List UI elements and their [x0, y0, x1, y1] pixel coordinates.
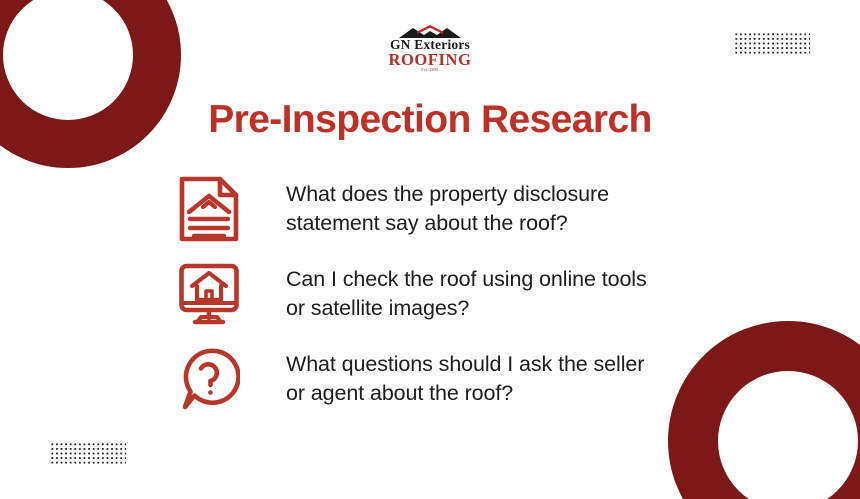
list-item-text: What questions should I ask the seller o… [262, 350, 644, 407]
dot-grid-bottom-left-decoration [50, 442, 126, 466]
question-list: What does the property disclosure statem… [178, 166, 738, 421]
list-item-line-2: or satellite images? [286, 294, 647, 322]
question-speech-bubble-icon [178, 345, 262, 413]
list-item: What questions should I ask the seller o… [178, 336, 738, 421]
brand-logo: GN Exteriors ROOFING Est. 2006 [0, 24, 860, 73]
monitor-house-icon [178, 260, 262, 328]
slide-canvas: GN Exteriors ROOFING Est. 2006 Pre-Inspe… [0, 0, 860, 499]
list-item-line-1: What questions should I ask the seller [286, 352, 644, 376]
logo-service-word: ROOFING [388, 52, 471, 69]
list-item-line-1: What does the property disclosure [286, 182, 609, 206]
list-item-line-1: Can I check the roof using online tools [286, 267, 647, 291]
page-title: Pre-Inspection Research [0, 98, 860, 142]
list-item-text: What does the property disclosure statem… [262, 180, 609, 237]
logo-established-tagline: Est. 2006 [421, 69, 438, 73]
list-item-text: Can I check the roof using online tools … [262, 265, 647, 322]
list-item-line-2: or agent about the roof? [286, 379, 644, 407]
document-roof-icon [178, 175, 262, 243]
list-item-line-2: statement say about the roof? [286, 209, 609, 237]
list-item: What does the property disclosure statem… [178, 166, 738, 251]
list-item: Can I check the roof using online tools … [178, 251, 738, 336]
